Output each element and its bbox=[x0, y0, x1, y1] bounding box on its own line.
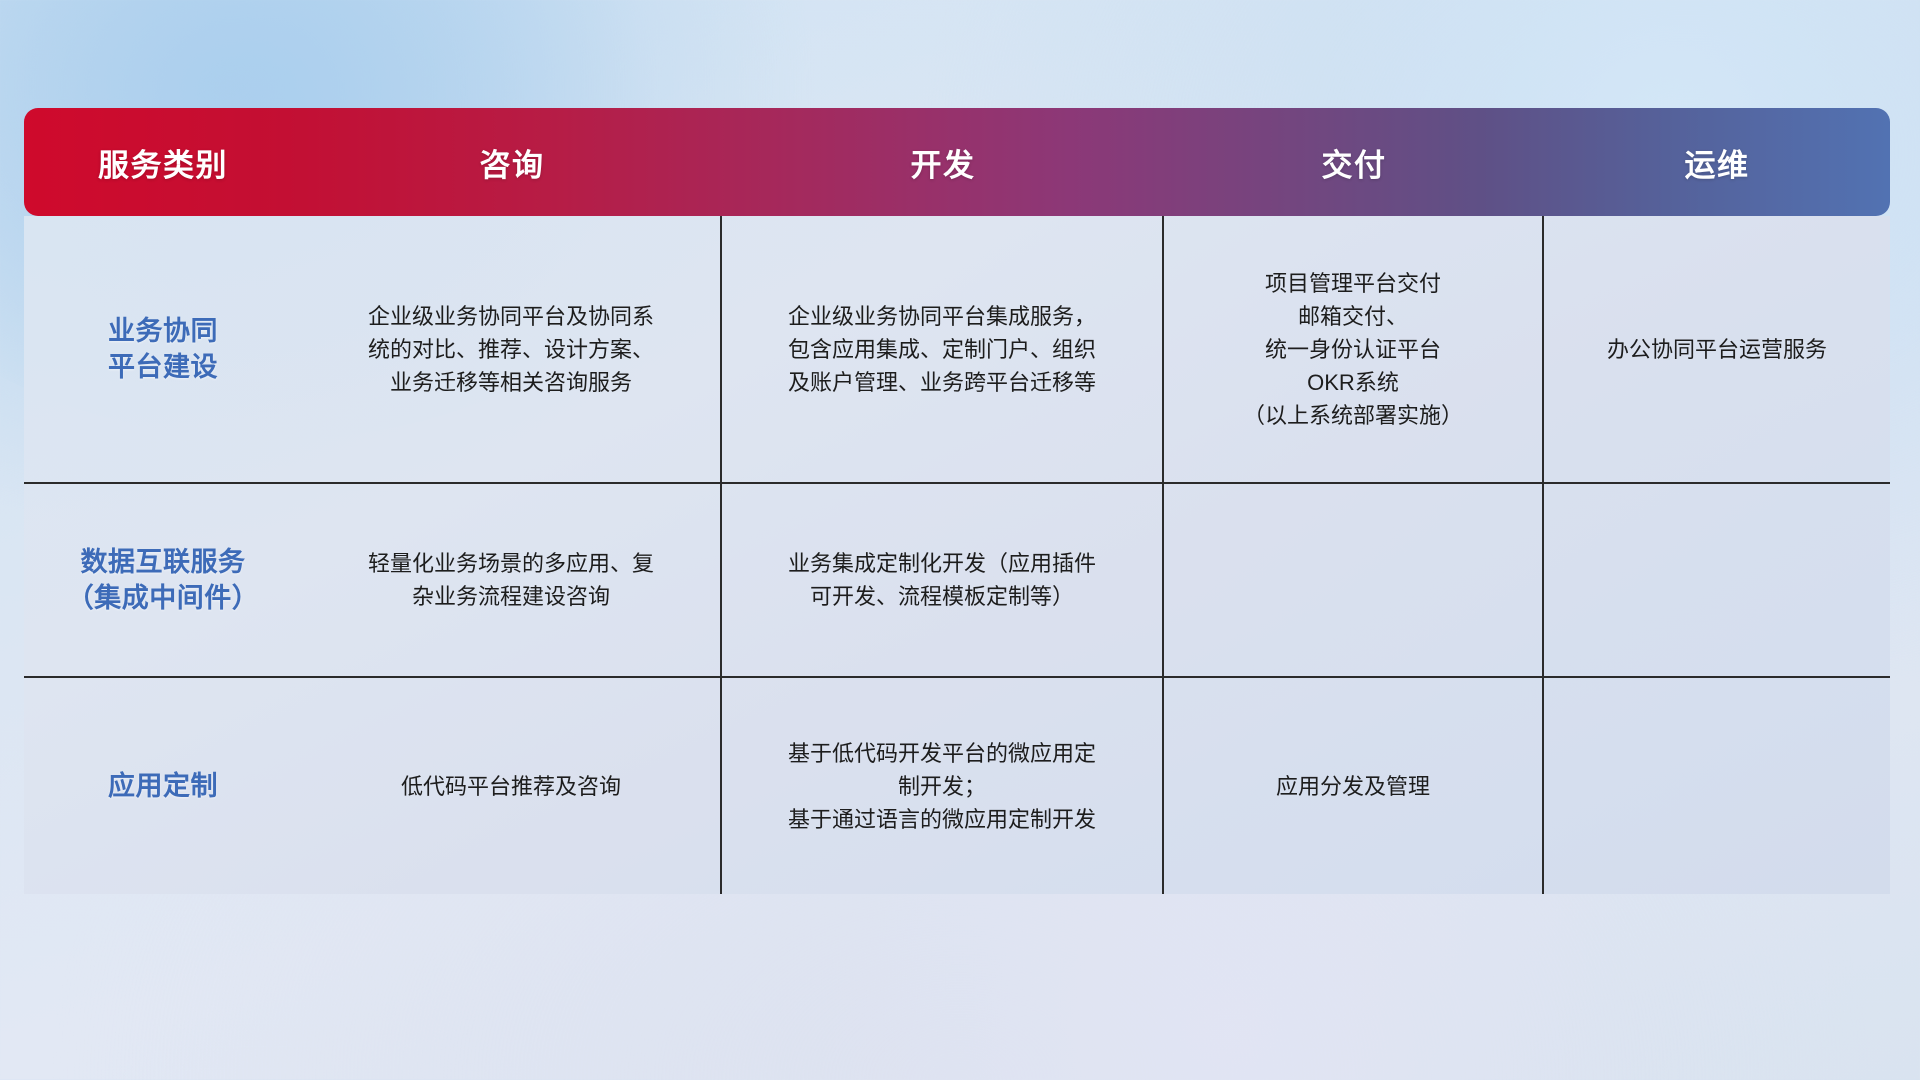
column-header-consulting: 咨询 bbox=[302, 108, 722, 216]
row-label-business-collaboration-platform: 业务协同 平台建设 bbox=[24, 216, 302, 482]
table-header-row: 服务类别 咨询 开发 交付 运维 bbox=[24, 108, 1890, 216]
slide-canvas: 服务类别 咨询 开发 交付 运维 业务协同 平台建设 企业级业务协同平台及协同系… bbox=[0, 0, 1920, 1080]
row-label-application-customization: 应用定制 bbox=[24, 678, 302, 894]
column-header-service-category: 服务类别 bbox=[24, 108, 302, 216]
cell-development: 基于低代码开发平台的微应用定 制开发； 基于通过语言的微应用定制开发 bbox=[722, 678, 1164, 894]
column-header-development: 开发 bbox=[722, 108, 1164, 216]
cell-development: 企业级业务协同平台集成服务， 包含应用集成、定制门户、组织 及账户管理、业务跨平… bbox=[722, 216, 1164, 482]
cell-consulting: 低代码平台推荐及咨询 bbox=[302, 678, 722, 894]
column-header-delivery: 交付 bbox=[1164, 108, 1544, 216]
cell-development: 业务集成定制化开发（应用插件 可开发、流程模板定制等） bbox=[722, 484, 1164, 676]
cell-delivery: 应用分发及管理 bbox=[1164, 678, 1544, 894]
cell-delivery bbox=[1164, 484, 1544, 676]
service-matrix-table: 服务类别 咨询 开发 交付 运维 业务协同 平台建设 企业级业务协同平台及协同系… bbox=[24, 108, 1890, 948]
cell-consulting: 企业级业务协同平台及协同系 统的对比、推荐、设计方案、 业务迁移等相关咨询服务 bbox=[302, 216, 722, 482]
cell-delivery: 项目管理平台交付 邮箱交付、 统一身份认证平台 OKR系统 （以上系统部署实施） bbox=[1164, 216, 1544, 482]
column-header-operations: 运维 bbox=[1544, 108, 1890, 216]
cell-operations: 办公协同平台运营服务 bbox=[1544, 216, 1890, 482]
table-row: 数据互联服务 （集成中间件） 轻量化业务场景的多应用、复 杂业务流程建设咨询 业… bbox=[24, 484, 1890, 678]
table-row: 应用定制 低代码平台推荐及咨询 基于低代码开发平台的微应用定 制开发； 基于通过… bbox=[24, 678, 1890, 894]
row-label-data-interconnect-service: 数据互联服务 （集成中间件） bbox=[24, 484, 302, 676]
table-row: 业务协同 平台建设 企业级业务协同平台及协同系 统的对比、推荐、设计方案、 业务… bbox=[24, 216, 1890, 484]
cell-operations bbox=[1544, 678, 1890, 894]
table-body: 业务协同 平台建设 企业级业务协同平台及协同系 统的对比、推荐、设计方案、 业务… bbox=[24, 216, 1890, 894]
cell-consulting: 轻量化业务场景的多应用、复 杂业务流程建设咨询 bbox=[302, 484, 722, 676]
cell-operations bbox=[1544, 484, 1890, 676]
